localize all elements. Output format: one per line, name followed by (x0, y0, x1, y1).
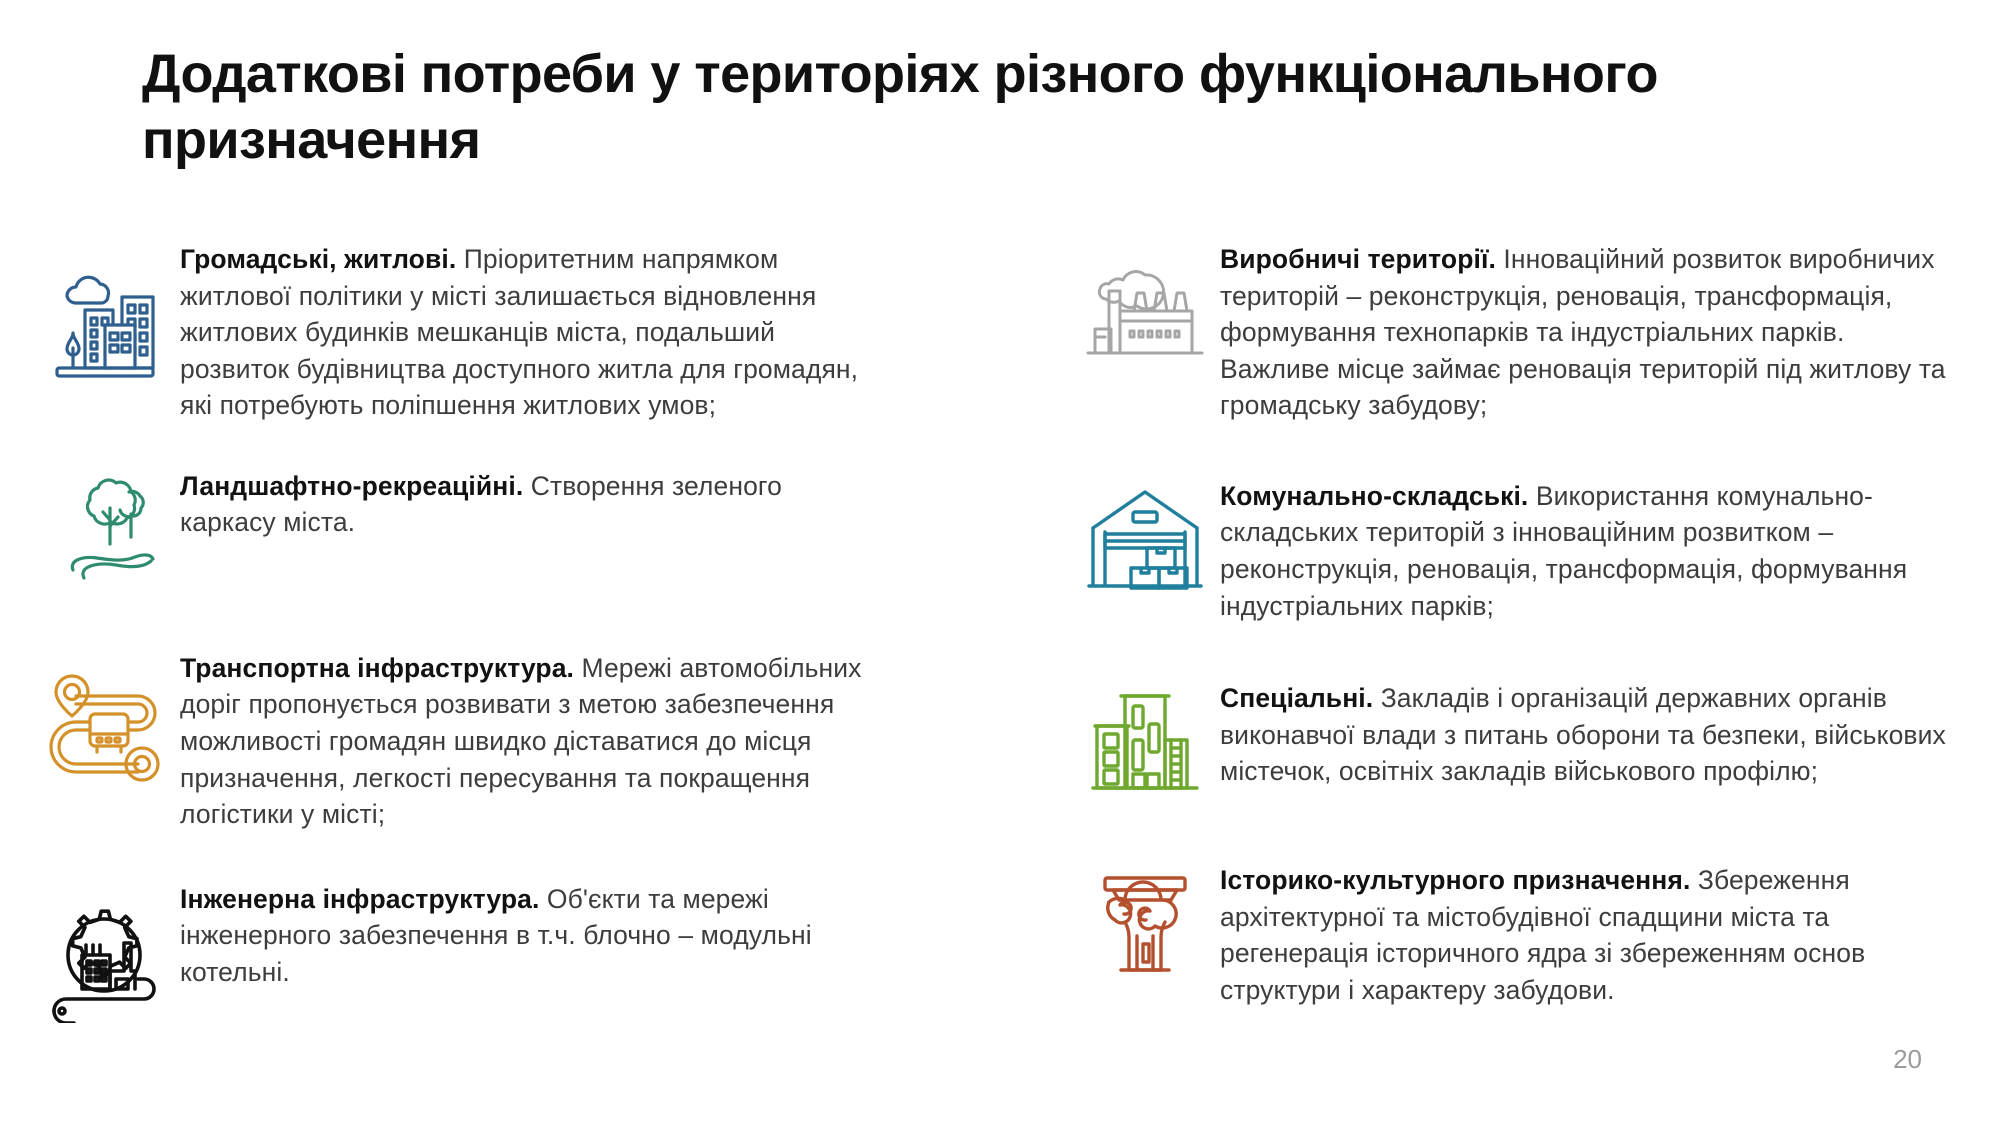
gear-factory-wrench-icon (30, 875, 180, 1005)
list-item-text: Комунально-складські. Використання комун… (1220, 472, 1960, 624)
green-buildings-icon (1070, 674, 1220, 804)
list-item-lead: Спеціальні. (1220, 683, 1373, 713)
right-column: Виробничі території. Інноваційний розвит… (1015, 235, 2000, 1008)
list-item-text: Інженерна інфраструктура. Об'єкти та мер… (180, 875, 880, 991)
left-column: Громадські, житлові. Пріоритетним напрям… (0, 235, 1015, 1008)
page-title: Додаткові потреби у територіях різного ф… (142, 42, 1902, 174)
list-item-text: Історико-культурного призначення. Збереж… (1220, 856, 1960, 1008)
ionic-column-icon (1070, 856, 1220, 986)
list-item-lead: Інженерна інфраструктура. (180, 884, 539, 914)
list-item-lead: Транспортна інфраструктура. (180, 653, 574, 683)
list-item-text: Спеціальні. Закладів і організацій держа… (1220, 674, 1960, 790)
factory-smoke-icon (1070, 235, 1220, 365)
page-number: 20 (1893, 1044, 1922, 1075)
list-item: Ландшафтно-рекреаційні. Створення зелено… (30, 462, 1015, 592)
list-item-lead: Історико-культурного призначення. (1220, 865, 1690, 895)
list-item: Громадські, житлові. Пріоритетним напрям… (30, 235, 1015, 424)
list-item-lead: Громадські, житлові. (180, 244, 456, 274)
list-item: Транспортна інфраструктура. Мережі автом… (30, 644, 1015, 833)
city-buildings-icon (30, 235, 180, 365)
list-item: Інженерна інфраструктура. Об'єкти та мер… (30, 875, 1015, 1005)
warehouse-boxes-icon (1070, 472, 1220, 602)
trees-path-icon (30, 462, 180, 592)
list-item: Комунально-складські. Використання комун… (1070, 472, 2000, 624)
bus-route-icon (30, 644, 180, 774)
list-item-text: Транспортна інфраструктура. Мережі автом… (180, 644, 880, 833)
list-item-lead: Ландшафтно-рекреаційні. (180, 471, 523, 501)
list-item-lead: Виробничі території. (1220, 244, 1496, 274)
list-item: Спеціальні. Закладів і організацій держа… (1070, 674, 2000, 804)
slide-root: Додаткові потреби у територіях різного ф… (0, 0, 2000, 1123)
list-item-text: Ландшафтно-рекреаційні. Створення зелено… (180, 462, 880, 541)
list-item: Історико-культурного призначення. Збереж… (1070, 856, 2000, 1008)
list-item: Виробничі території. Інноваційний розвит… (1070, 235, 2000, 424)
list-item-lead: Комунально-складські. (1220, 481, 1528, 511)
list-item-text: Громадські, житлові. Пріоритетним напрям… (180, 235, 880, 424)
content-columns: Громадські, житлові. Пріоритетним напрям… (0, 235, 2000, 1008)
list-item-text: Виробничі території. Інноваційний розвит… (1220, 235, 1960, 424)
